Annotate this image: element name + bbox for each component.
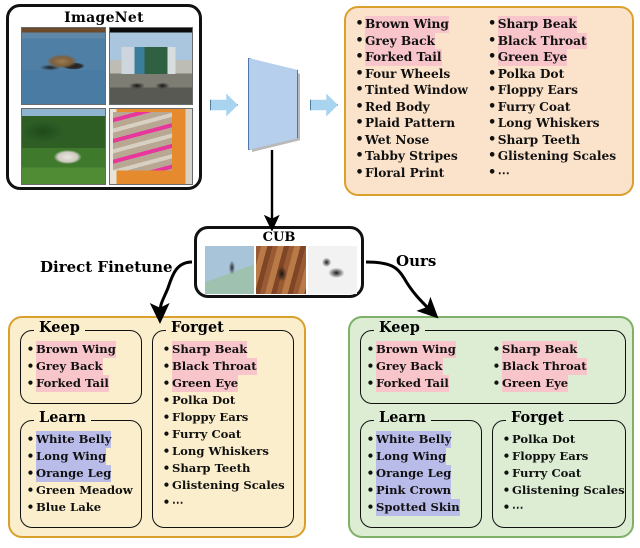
bullet-icon: • (365, 482, 376, 499)
group-title: Keep (374, 320, 425, 335)
list-item: •Furry Coat (487, 99, 626, 116)
bullet-icon: • (354, 49, 365, 66)
attribute-pool-right-column: •Sharp Beak •Black Throat •Green Eye •Po… (487, 16, 626, 188)
bullet-icon: • (365, 448, 376, 465)
bullet-icon: • (161, 358, 172, 375)
cub-target-box: CUB (194, 226, 364, 298)
list-item: •Green Eye (491, 375, 623, 392)
bullet-icon: • (491, 358, 502, 375)
jackdaw-photo (308, 246, 357, 294)
imagenet-source-box: ImageNet (6, 4, 202, 190)
bullet-icon: • (487, 33, 498, 50)
finetune-keep-group: Keep •Brown Wing •Grey Back •Forked Tail (20, 330, 142, 404)
bullet-icon: • (161, 375, 172, 392)
direct-finetune-result-panel: Keep •Brown Wing •Grey Back •Forked Tail… (8, 316, 306, 538)
list-item: •Furry Coat (501, 465, 623, 482)
bullet-icon: • (161, 409, 172, 426)
bullet-icon: • (161, 443, 172, 460)
bullet-icon: • (354, 99, 365, 116)
ours-forget-group: Forget •Polka Dot •Floppy Ears •Furry Co… (492, 420, 626, 528)
list-item: •Sharp Teeth (487, 132, 626, 149)
list-item: •Forked Tail (365, 375, 491, 392)
bullet-icon: • (25, 499, 36, 516)
list-item: •Green Meadow (25, 482, 139, 499)
list-item: •Polka Dot (487, 66, 626, 83)
list-item: •Four Wheels (354, 66, 487, 83)
bullet-icon: • (25, 465, 36, 482)
list-item: •Black Throat (491, 358, 623, 375)
ours-keep-right-column: •Sharp Beak •Black Throat •Green Eye (491, 341, 623, 392)
ours-keep-left-column: •Brown Wing •Grey Back •Forked Tail (365, 341, 491, 392)
list-item: •Sharp Beak (487, 16, 626, 33)
bullet-icon: • (491, 341, 502, 358)
ours-learn-group: Learn •White Belly •Long Wing •Orange Le… (360, 420, 482, 528)
bullet-icon: • (501, 465, 512, 482)
list-item: •Floppy Ears (161, 409, 291, 426)
list-item: •Grey Back (354, 33, 487, 50)
list-item: •Glistening Scales (161, 477, 291, 494)
list-item: •White Belly (25, 431, 139, 448)
bullet-icon: • (354, 115, 365, 132)
bullet-icon: • (25, 431, 36, 448)
bullet-icon: • (161, 392, 172, 409)
list-item: •Sharp Beak (161, 341, 291, 358)
bullet-icon: • (365, 358, 376, 375)
bullet-icon: • (487, 66, 498, 83)
bullet-icon: • (487, 49, 498, 66)
bullet-icon: • (354, 33, 365, 50)
bullet-icon: • (25, 482, 36, 499)
bullet-icon: • (25, 448, 36, 465)
list-item: •Floppy Ears (487, 82, 626, 99)
bullet-icon: • (487, 16, 498, 33)
bullet-icon: • (25, 375, 36, 392)
list-item: •Grey Back (365, 358, 491, 375)
imagenet-thumbnail-grid (21, 27, 193, 185)
list-item: •Blue Lake (25, 499, 139, 516)
bullet-icon: • (365, 431, 376, 448)
attribute-pool-panel: •Brown Wing •Grey Back •Forked Tail •Fou… (344, 6, 634, 196)
bullet-icon: • (487, 99, 498, 116)
list-item: •Sharp Teeth (161, 460, 291, 477)
list-item: •Spotted Skin (365, 499, 479, 516)
bullet-icon: • (354, 148, 365, 165)
encoder-model-shape (248, 58, 298, 150)
branch-label-ours: Ours (396, 252, 436, 270)
bullet-icon: • (487, 148, 498, 165)
bullet-icon: • (161, 494, 172, 511)
list-item: •Forked Tail (25, 375, 139, 392)
white-wolf-photo (21, 108, 106, 186)
group-title: Forget (506, 410, 569, 425)
bullet-icon: • (365, 465, 376, 482)
list-item: •Tinted Window (354, 82, 487, 99)
bullet-icon: • (365, 375, 376, 392)
list-item: •Green Eye (161, 375, 291, 392)
list-item: •Glistening Scales (501, 482, 623, 499)
list-item: •⋯ (161, 494, 291, 511)
ours-keep-group: Keep •Brown Wing •Grey Back •Forked Tail… (360, 330, 626, 404)
list-item: •Orange Leg (365, 465, 479, 482)
list-item: •Floral Print (354, 165, 487, 182)
list-item: •Long Whiskers (161, 443, 291, 460)
bullet-icon: • (354, 132, 365, 149)
bullet-icon: • (365, 499, 376, 516)
list-item: •Orange Leg (25, 465, 139, 482)
list-item: •Long Whiskers (487, 115, 626, 132)
bullet-icon: • (487, 165, 498, 182)
cub-title: CUB (197, 230, 361, 245)
bullet-icon: • (354, 82, 365, 99)
group-title: Learn (374, 410, 431, 425)
attribute-pool-left-column: •Brown Wing •Grey Back •Forked Tail •Fou… (354, 16, 487, 188)
finetune-learn-group: Learn •White Belly •Long Wing •Orange Le… (20, 420, 142, 528)
list-item: •Tabby Stripes (354, 148, 487, 165)
input-right-arrow-icon (210, 92, 238, 118)
bullet-icon: • (161, 477, 172, 494)
blackbird-on-reed-photo (205, 246, 254, 294)
garbage-truck-photo (109, 27, 194, 105)
list-item: •Glistening Scales (487, 148, 626, 165)
list-item: •Brown Wing (365, 341, 491, 358)
ours-result-panel: Keep •Brown Wing •Grey Back •Forked Tail… (348, 316, 634, 538)
list-item: •Wet Nose (354, 132, 487, 149)
bullet-icon: • (501, 431, 512, 448)
bullet-icon: • (487, 82, 498, 99)
bullet-icon: • (354, 66, 365, 83)
list-item: •⋯ (487, 165, 626, 182)
imagenet-title: ImageNet (9, 10, 199, 26)
bullet-icon: • (501, 482, 512, 499)
list-item: •Floppy Ears (501, 448, 623, 465)
output-right-arrow-icon (310, 92, 338, 118)
list-item: •Brown Wing (354, 16, 487, 33)
bullet-icon: • (354, 165, 365, 182)
bullet-icon: • (501, 448, 512, 465)
bullet-icon: • (161, 426, 172, 443)
list-item: •Polka Dot (161, 392, 291, 409)
list-item: •Long Wing (25, 448, 139, 465)
list-item: •White Belly (365, 431, 479, 448)
cub-thumbnail-grid (205, 246, 357, 294)
list-item: •Black Throat (487, 33, 626, 50)
striped-poncho-photo (109, 108, 194, 186)
bullet-icon: • (25, 358, 36, 375)
bullet-icon: • (161, 341, 172, 358)
list-item: •Brown Wing (25, 341, 139, 358)
branch-label-direct-finetune: Direct Finetune (40, 258, 173, 276)
list-item: •Pink Crown (365, 482, 479, 499)
bird-over-water-photo (21, 27, 106, 105)
group-title: Learn (34, 410, 91, 425)
list-item: •Grey Back (25, 358, 139, 375)
group-title: Keep (34, 320, 85, 335)
list-item: •Green Eye (487, 49, 626, 66)
blackbird-on-bark-photo (256, 246, 305, 294)
finetune-forget-group: Forget •Sharp Beak •Black Throat •Green … (152, 330, 294, 528)
list-item: •Furry Coat (161, 426, 291, 443)
list-item: •Polka Dot (501, 431, 623, 448)
bullet-icon: • (354, 16, 365, 33)
bullet-icon: • (487, 115, 498, 132)
list-item: •Red Body (354, 99, 487, 116)
bullet-icon: • (25, 341, 36, 358)
bullet-icon: • (365, 341, 376, 358)
bullet-icon: • (491, 375, 502, 392)
list-item: •Sharp Beak (491, 341, 623, 358)
list-item: •Plaid Pattern (354, 115, 487, 132)
list-item: •Forked Tail (354, 49, 487, 66)
bullet-icon: • (487, 132, 498, 149)
bullet-icon: • (501, 499, 512, 516)
group-title: Forget (166, 320, 229, 335)
list-item: •⋯ (501, 499, 623, 516)
list-item: •Long Wing (365, 448, 479, 465)
list-item: •Black Throat (161, 358, 291, 375)
bullet-icon: • (161, 460, 172, 477)
